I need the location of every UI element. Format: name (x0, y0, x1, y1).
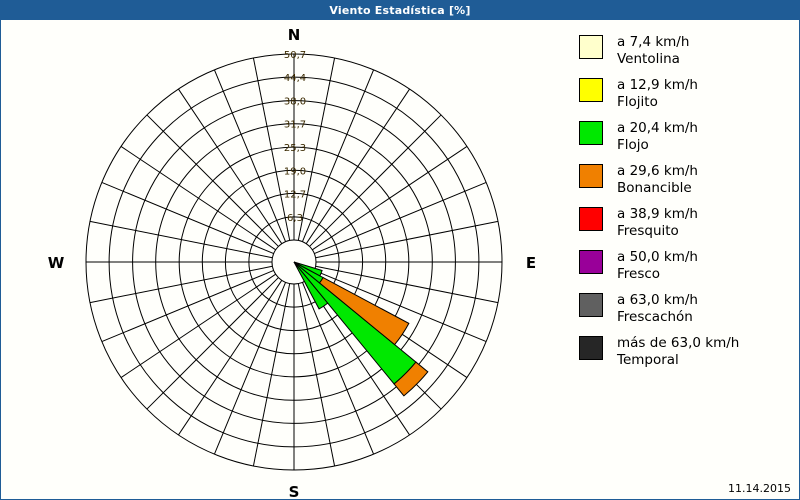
radial-tick-label: 38,0 (284, 97, 306, 108)
legend-label: a 7,4 km/hVentolina (617, 34, 689, 68)
radial-tick-label: 50,7 (284, 50, 306, 61)
direction-label-n: N (288, 26, 301, 44)
direction-label-s: S (289, 483, 300, 499)
legend-category-name: Fresquito (617, 223, 698, 240)
legend-speed-range: a 20,4 km/h (617, 120, 698, 137)
legend-item[interactable]: a 29,6 km/hBonancible (579, 163, 794, 197)
date-stamp: 11.14.2015 (728, 482, 791, 495)
legend-label: a 29,6 km/hBonancible (617, 163, 698, 197)
legend-category-name: Flojo (617, 137, 698, 154)
legend-swatch (579, 293, 603, 317)
legend-speed-range: a 29,6 km/h (617, 163, 698, 180)
legend-speed-range: a 38,9 km/h (617, 206, 698, 223)
legend-category-name: Fresco (617, 266, 698, 283)
legend-item[interactable]: más de 63,0 km/hTemporal (579, 335, 794, 369)
window-title-bar: Viento Estadística [%] (1, 1, 799, 20)
radial-tick-label: 44,4 (284, 73, 306, 84)
direction-label-e: E (526, 254, 536, 272)
legend-item[interactable]: a 20,4 km/hFlojo (579, 120, 794, 154)
legend-swatch (579, 35, 603, 59)
legend-swatch (579, 164, 603, 188)
radial-tick-label: 12,7 (284, 189, 306, 200)
legend-label: a 12,9 km/hFlojito (617, 77, 698, 111)
legend-label: a 20,4 km/hFlojo (617, 120, 698, 154)
legend-category-name: Frescachón (617, 309, 698, 326)
wind-rose-svg: 6,312,719,025,331,738,044,450,7NSEW (1, 20, 571, 499)
grid-spoke (316, 221, 498, 257)
grid-spoke (147, 115, 279, 247)
window-title: Viento Estadística [%] (329, 4, 470, 17)
legend-label: a 38,9 km/hFresquito (617, 206, 698, 240)
legend-speed-range: a 7,4 km/h (617, 34, 689, 51)
legend-speed-range: a 50,0 km/h (617, 249, 698, 266)
wind-rose-window: Viento Estadística [%] 6,312,719,025,331… (0, 0, 800, 500)
grid-spoke (253, 284, 289, 466)
legend-item[interactable]: a 12,9 km/hFlojito (579, 77, 794, 111)
legend-swatch (579, 121, 603, 145)
legend-speed-range: a 12,9 km/h (617, 77, 698, 94)
legend-item[interactable]: a 50,0 km/hFresco (579, 249, 794, 283)
radial-tick-label: 6,3 (287, 213, 303, 224)
legend-item[interactable]: a 7,4 km/hVentolina (579, 34, 794, 68)
radial-tick-label: 25,3 (284, 143, 306, 154)
legend-item[interactable]: a 63,0 km/hFrescachón (579, 292, 794, 326)
legend-speed-range: a 63,0 km/h (617, 292, 698, 309)
grid-spoke (298, 284, 334, 466)
legend-category-name: Bonancible (617, 180, 698, 197)
legend-item[interactable]: a 38,9 km/hFresquito (579, 206, 794, 240)
legend-category-name: Flojito (617, 94, 698, 111)
grid-spoke (90, 221, 272, 257)
legend-swatch (579, 207, 603, 231)
legend-label: a 63,0 km/hFrescachón (617, 292, 698, 326)
legend: a 7,4 km/hVentolinaa 12,9 km/hFlojitoa 2… (579, 34, 794, 378)
legend-category-name: Ventolina (617, 51, 689, 68)
grid-spoke (147, 278, 279, 410)
legend-swatch (579, 336, 603, 360)
legend-speed-range: más de 63,0 km/h (617, 335, 739, 352)
legend-swatch (579, 78, 603, 102)
legend-label: a 50,0 km/hFresco (617, 249, 698, 283)
wind-rose-plot: 6,312,719,025,331,738,044,450,7NSEW (1, 20, 571, 499)
grid-spoke (90, 266, 272, 302)
radial-tick-label: 19,0 (284, 166, 306, 177)
grid-spoke (310, 115, 442, 247)
legend-category-name: Temporal (617, 352, 739, 369)
direction-label-w: W (48, 254, 65, 272)
legend-swatch (579, 250, 603, 274)
legend-label: más de 63,0 km/hTemporal (617, 335, 739, 369)
radial-tick-label: 31,7 (284, 120, 306, 131)
